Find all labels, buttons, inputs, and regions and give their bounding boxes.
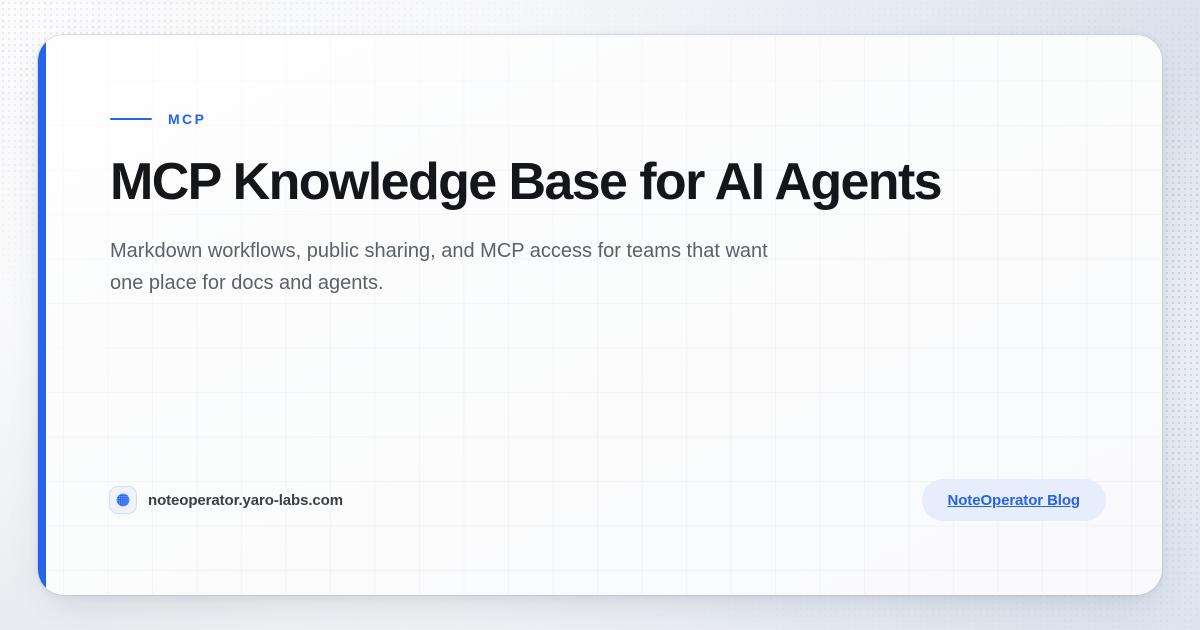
site-url-label: noteoperator.yaro-labs.com (148, 492, 343, 509)
horizontal-rule-icon (110, 118, 152, 120)
card-accent-bar (38, 35, 46, 595)
globe-icon (110, 487, 136, 513)
card-content: MCP MCP Knowledge Base for AI Agents Mar… (110, 35, 1106, 595)
hero-card: MCP MCP Knowledge Base for AI Agents Mar… (38, 35, 1162, 595)
blog-button[interactable]: NoteOperator Blog (922, 479, 1106, 521)
card-footer: noteoperator.yaro-labs.com NoteOperator … (110, 479, 1106, 521)
page-title: MCP Knowledge Base for AI Agents (110, 153, 941, 211)
page-subtitle: Markdown workflows, public sharing, and … (110, 235, 790, 300)
eyebrow-label: MCP (168, 111, 206, 127)
eyebrow: MCP (110, 111, 206, 127)
site-identity: noteoperator.yaro-labs.com (110, 487, 343, 513)
og-card-page: MCP MCP Knowledge Base for AI Agents Mar… (0, 0, 1200, 630)
